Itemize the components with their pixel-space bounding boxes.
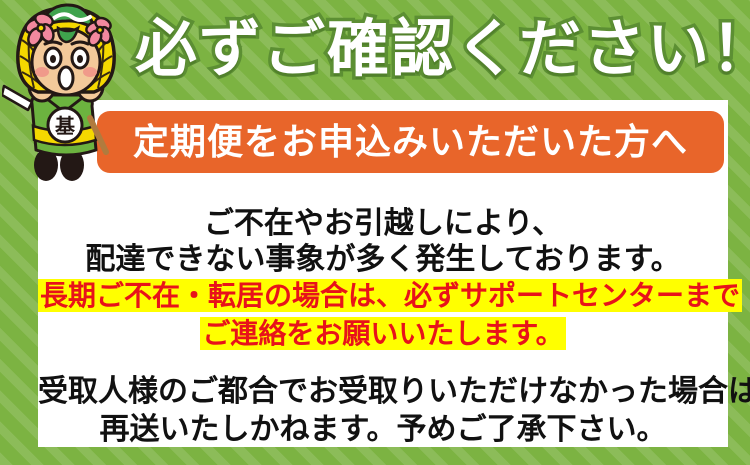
emphasis-line-2: ご連絡をお願いいたします。: [38, 312, 728, 352]
notice-banner: 必ずご確認ください！ 定期便をお申込みいただいた方へ ご不在やお引越しにより、 …: [0, 0, 750, 465]
emphasis-line-1-text: 長期ご不在・転居の場合は、必ずサポートセンターまで: [38, 279, 742, 312]
page-title: 必ずご確認ください！: [135, 7, 735, 93]
callout-label: 定期便をお申込みいただいた方へ: [97, 111, 724, 173]
emphasis-line-1: 長期ご不在・転居の場合は、必ずサポートセンターまで: [38, 274, 728, 314]
body-line-2: 配達できない事象が多く発生しております。: [38, 234, 728, 278]
mascot-character-icon: 基: [2, 0, 130, 190]
body-line-4: 再送いたしかねます。予めご了承下さい。: [38, 404, 728, 448]
emphasis-line-2-text: ご連絡をお願いいたします。: [200, 317, 565, 350]
mascot-badge-text: 基: [55, 114, 76, 138]
